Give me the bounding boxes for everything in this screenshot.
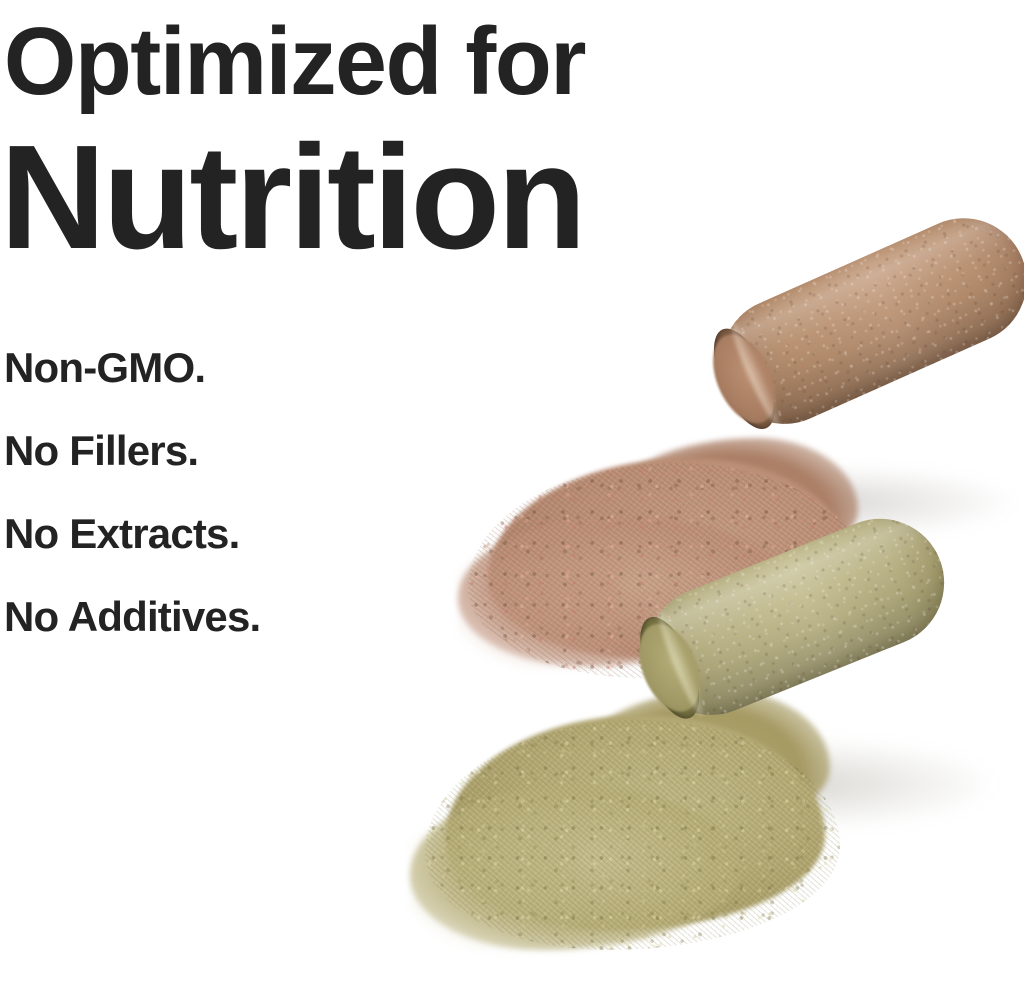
headline-line-nutrition: Nutrition <box>0 114 752 274</box>
promotional-product-banner: Optimized for Nutrition Non-GMO. No Fill… <box>0 0 1024 985</box>
product-photo <box>380 290 1024 985</box>
powder-speckle-texture <box>425 720 840 950</box>
headline-line-optimized-for: Optimized for <box>0 0 737 114</box>
olive-green-powder-pile <box>410 690 860 980</box>
headline-block: Optimized for Nutrition <box>0 0 760 274</box>
